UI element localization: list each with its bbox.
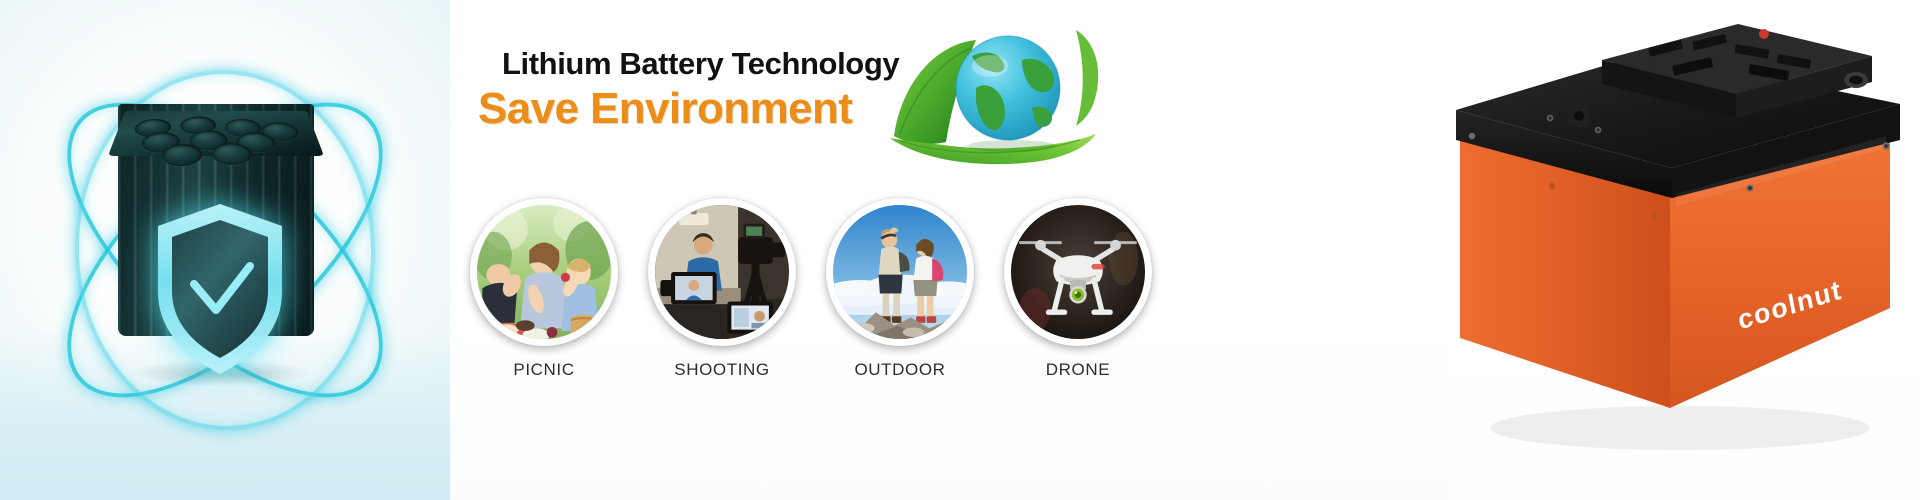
cell-pack-top xyxy=(108,111,324,156)
use-case-thumb-outdoor[interactable] xyxy=(826,198,974,346)
picnic-photo xyxy=(477,205,611,339)
center-panel-message: Lithium Battery Technology Save Environm… xyxy=(450,0,1450,500)
use-case-gallery: PICNIC xyxy=(450,198,1450,428)
use-case-label-shooting: SHOOTING xyxy=(648,360,796,380)
use-case-thumb-drone[interactable] xyxy=(1004,198,1152,346)
use-case-thumb-shooting[interactable] xyxy=(648,198,796,346)
use-case-label-drone: DRONE xyxy=(1004,360,1152,380)
globe-on-leaf-icon xyxy=(880,16,1130,176)
outdoor-photo xyxy=(833,205,967,339)
coolnut-battery-pack-image xyxy=(1450,8,1920,478)
drone-photo xyxy=(1011,205,1145,339)
shooting-photo xyxy=(655,205,789,339)
product-banner: Lithium Battery Technology Save Environm… xyxy=(0,0,1920,500)
use-case-thumb-picnic[interactable] xyxy=(470,198,618,346)
shield-check-icon xyxy=(150,200,290,378)
right-panel-battery: coolnut xyxy=(1450,0,1920,500)
use-case-label-picnic: PICNIC xyxy=(470,360,618,380)
use-case-label-outdoor: OUTDOOR xyxy=(826,360,974,380)
left-panel-cell-pack xyxy=(0,0,450,500)
